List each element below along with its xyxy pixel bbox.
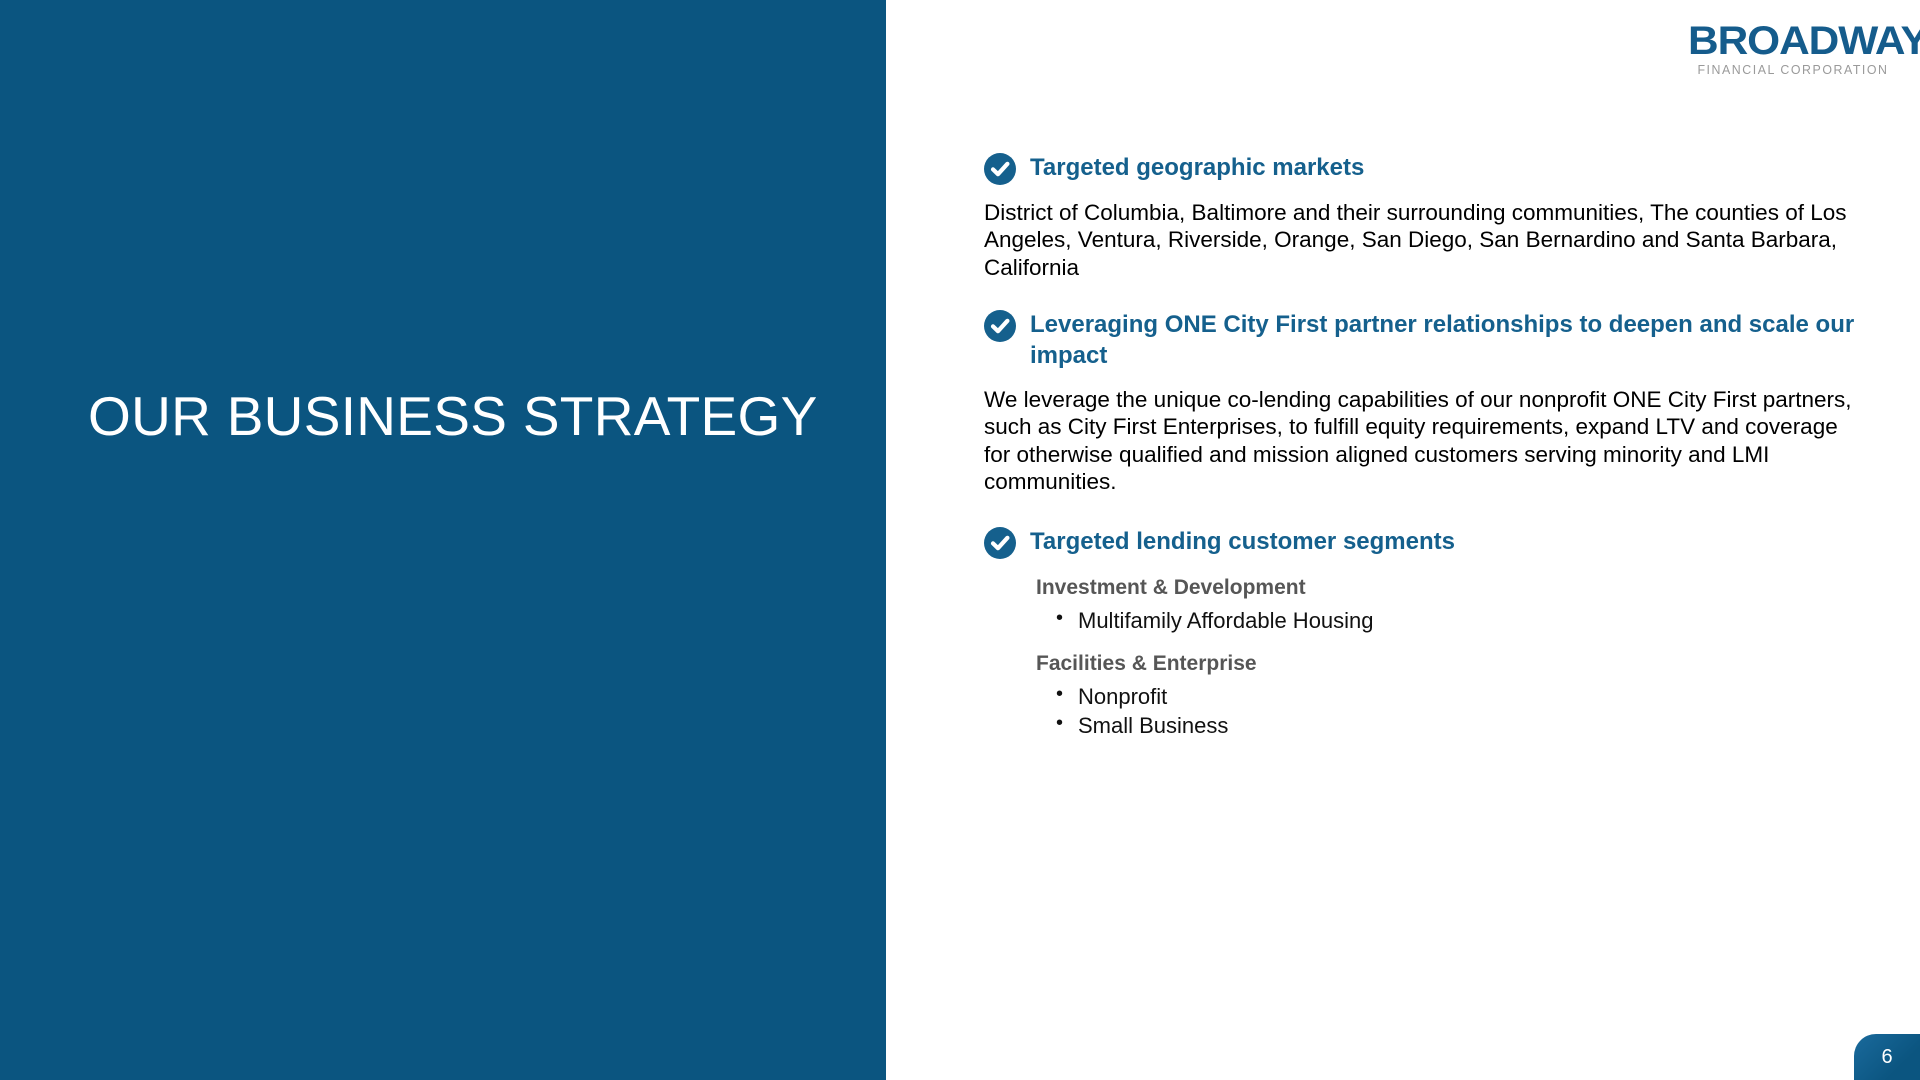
- title-panel: OUR BUSINESS STRATEGY: [0, 0, 886, 1080]
- page-number: 6: [1881, 1046, 1892, 1069]
- section-customer-segments: Targeted lending customer segments Inves…: [984, 526, 1864, 741]
- section-body: We leverage the unique co-lending capabi…: [984, 386, 1864, 496]
- check-circle-icon: [984, 310, 1016, 342]
- list-item: Nonprofit: [1056, 682, 1864, 711]
- logo-wordmark: BROADWAY: [1688, 22, 1898, 60]
- spacer: [984, 281, 1864, 309]
- section-heading-row: Leveraging ONE City First partner relati…: [984, 309, 1864, 371]
- company-logo: BROADWAY FINANCIAL CORPORATION: [1694, 22, 1892, 77]
- section-geographic-markets: Targeted geographic markets District of …: [984, 152, 1864, 281]
- logo-subtitle: FINANCIAL CORPORATION: [1695, 63, 1891, 77]
- slide: OUR BUSINESS STRATEGY BROADWAY FINANCIAL…: [0, 0, 1920, 1080]
- list-item: Multifamily Affordable Housing: [1056, 606, 1864, 635]
- section-one-city-first: Leveraging ONE City First partner relati…: [984, 309, 1864, 495]
- section-heading: Targeted lending customer segments: [1030, 526, 1455, 558]
- check-circle-icon: [984, 527, 1016, 559]
- section-body: District of Columbia, Baltimore and thei…: [984, 199, 1864, 281]
- page-number-tab: 6: [1854, 1034, 1920, 1080]
- segment-group-label: Investment & Development: [1036, 576, 1864, 600]
- spacer: [984, 496, 1864, 526]
- section-heading: Targeted geographic markets: [1030, 152, 1364, 184]
- content-column: Targeted geographic markets District of …: [984, 152, 1864, 741]
- section-heading-row: Targeted geographic markets: [984, 152, 1864, 185]
- section-heading-row: Targeted lending customer segments: [984, 526, 1864, 559]
- segment-group-items: Multifamily Affordable Housing: [984, 606, 1864, 635]
- segment-group-items: Nonprofit Small Business: [984, 682, 1864, 741]
- section-heading: Leveraging ONE City First partner relati…: [1030, 309, 1864, 371]
- list-item: Small Business: [1056, 711, 1864, 740]
- segment-group-label: Facilities & Enterprise: [1036, 652, 1864, 676]
- page-title: OUR BUSINESS STRATEGY: [88, 386, 828, 447]
- check-circle-icon: [984, 153, 1016, 185]
